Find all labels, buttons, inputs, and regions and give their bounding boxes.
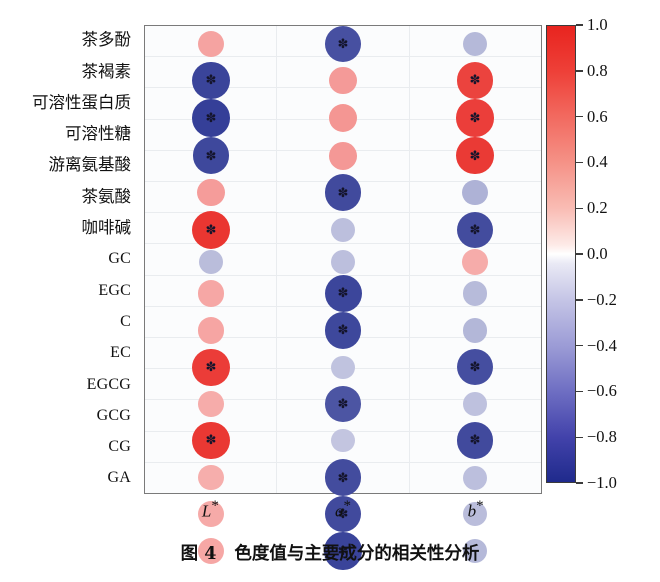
matrix-cell[interactable] [145,275,277,312]
correlation-bubble: ✽ [325,26,361,62]
matrix-cell[interactable]: ✽ [277,275,409,312]
y-axis-label: GC [0,244,138,275]
caption-text: 色度值与主要成分的相关性分析 [234,544,479,564]
colorbar-tick-line [576,116,583,117]
y-axis-label: 茶多酚 [0,25,138,56]
y-axis-label: 咖啡碱 [0,213,138,244]
matrix-cell[interactable]: ✽ [145,137,277,175]
y-axis-label: GA [0,463,138,494]
correlation-bubble: ✽ [456,99,493,136]
y-axis-label: 游离氨基酸 [0,150,138,181]
colorbar-tick-label: 0.8 [587,61,608,81]
correlation-bubble [463,32,488,57]
matrix-cell[interactable] [277,137,409,175]
colorbar-gradient [546,25,576,483]
matrix-row: ✽ [145,26,541,62]
correlation-bubble [331,429,354,452]
colorbar-tick-line [576,482,583,483]
correlation-bubble [331,250,355,274]
correlation-bubble [462,180,487,205]
correlation-bubble: ✽ [193,137,230,174]
matrix-row: ✽ [145,174,541,211]
colorbar-tick-label: 0.2 [587,198,608,218]
correlation-bubble: ✽ [325,459,361,495]
matrix-cell[interactable] [409,275,541,312]
correlation-bubble [198,465,224,491]
correlation-bubble [463,318,488,343]
colorbar-tick-line [576,253,583,254]
matrix-cell[interactable]: ✽ [277,459,409,495]
matrix-cell[interactable] [409,249,541,275]
colorbar-tick-line [576,70,583,71]
x-axis-labels: L*a*b* [144,498,542,528]
correlation-bubble: ✽ [192,99,230,137]
colorbar-tick-label: −1.0 [587,473,617,493]
correlation-bubble [198,31,225,58]
correlation-bubble: ✽ [457,349,493,385]
colorbar-tick-line [576,208,583,209]
x-axis-label-superscript: * [344,498,352,514]
matrix-cell[interactable] [145,312,277,349]
correlation-bubble: ✽ [192,62,229,99]
correlation-bubble [197,179,224,206]
matrix-cell[interactable]: ✽ [409,422,541,460]
correlation-bubble [331,356,354,379]
correlation-bubble: ✽ [325,174,362,211]
y-axis-label: GCG [0,400,138,431]
correlation-bubble [198,317,224,343]
colorbar-ticks: 1.00.80.60.40.20.0−0.2−0.4−0.6−0.8−1.0 [576,25,656,483]
matrix-row: ✽ [145,386,541,421]
y-axis-label: CG [0,431,138,462]
matrix-cell[interactable]: ✽ [145,211,277,249]
matrix-row: ✽✽ [145,99,541,137]
colorbar-tick-label: −0.6 [587,381,617,401]
matrix-cell[interactable] [409,459,541,495]
x-axis-label: a* [277,498,410,528]
colorbar-tick-label: −0.2 [587,290,617,310]
correlation-bubble: ✽ [192,349,229,386]
plot-area: ✽✽✽✽✽✽✽✽✽✽✽✽✽✽✽✽✽✽✽✽ [144,25,542,494]
colorbar-tick-label: −0.4 [587,336,617,356]
colorbar-tick-label: 0.0 [587,244,608,264]
matrix-cell[interactable]: ✽ [409,137,541,175]
matrix-cell[interactable] [409,26,541,62]
correlation-bubble: ✽ [457,62,494,99]
colorbar-tick-line [576,391,583,392]
matrix-row [145,249,541,275]
correlation-bubble [462,249,488,275]
bubble-matrix: ✽✽✽✽✽✽✽✽✽✽✽✽✽✽✽✽✽✽✽✽ [145,26,541,493]
matrix-cell[interactable]: ✽ [409,62,541,99]
matrix-row: ✽ [145,459,541,495]
correlation-bubble [329,104,357,132]
colorbar-tick-label: 0.4 [587,152,608,172]
matrix-cell[interactable]: ✽ [409,349,541,386]
colorbar-tick-label: 0.6 [587,107,608,127]
matrix-cell[interactable] [409,312,541,349]
correlation-bubble [463,281,487,305]
colorbar-tick-line [576,299,583,300]
colorbar-tick-line [576,437,583,438]
x-axis-label: L* [144,498,277,528]
correlation-bubble: ✽ [456,137,494,175]
x-axis-label-superscript: * [211,498,219,514]
correlation-bubble: ✽ [457,422,494,459]
y-axis-label: EC [0,338,138,369]
matrix-row: ✽ [145,312,541,349]
matrix-cell[interactable]: ✽ [145,62,277,99]
colorbar-tick-line [576,24,583,25]
matrix-row: ✽✽ [145,349,541,386]
x-axis-label-text: L [202,502,211,521]
x-axis-label: b* [409,498,542,528]
matrix-row: ✽✽ [145,62,541,99]
correlation-bubble [331,218,355,242]
matrix-cell[interactable] [145,174,277,211]
y-axis-label: 茶褐素 [0,56,138,87]
correlation-bubble [463,466,487,490]
matrix-cell[interactable]: ✽ [409,211,541,249]
correlation-bubble [198,280,224,306]
y-axis-labels: 茶多酚茶褐素可溶性蛋白质可溶性糖游离氨基酸茶氨酸咖啡碱GCEGCCECEGCGG… [0,25,138,494]
matrix-row: ✽✽ [145,137,541,175]
matrix-cell[interactable]: ✽ [277,26,409,62]
y-axis-label: EGC [0,275,138,306]
matrix-cell[interactable]: ✽ [277,174,409,211]
matrix-cell[interactable] [145,26,277,62]
correlation-bubble: ✽ [457,212,493,248]
matrix-cell[interactable]: ✽ [277,386,409,421]
correlation-bubble: ✽ [325,386,360,421]
matrix-cell[interactable]: ✽ [145,99,277,137]
matrix-cell[interactable] [277,62,409,99]
matrix-row: ✽✽ [145,422,541,460]
correlation-bubble-figure: 茶多酚茶褐素可溶性蛋白质可溶性糖游离氨基酸茶氨酸咖啡碱GCEGCCECEGCGG… [0,0,660,582]
correlation-bubble [198,391,224,417]
x-axis-label-superscript: * [476,498,484,514]
x-axis-label-text: a [335,502,344,521]
correlation-bubble [463,392,487,416]
correlation-bubble: ✽ [325,275,362,312]
matrix-cell[interactable] [409,174,541,211]
correlation-bubble [199,250,223,274]
matrix-cell[interactable] [277,211,409,249]
matrix-cell[interactable] [277,99,409,137]
matrix-cell[interactable] [409,386,541,421]
colorbar-tick-line [576,345,583,346]
y-axis-label: EGCG [0,369,138,400]
matrix-cell[interactable]: ✽ [277,312,409,349]
matrix-cell[interactable] [277,422,409,460]
colorbar-tick-label: −0.8 [587,427,617,447]
matrix-row: ✽ [145,275,541,312]
correlation-bubble: ✽ [325,312,362,349]
x-axis-label-text: b [468,502,477,521]
caption-number: 图 4 [181,544,217,564]
matrix-cell[interactable] [277,249,409,275]
matrix-cell[interactable] [277,349,409,386]
matrix-cell[interactable] [145,459,277,495]
y-axis-label: 茶氨酸 [0,181,138,212]
colorbar-tick-line [576,162,583,163]
y-axis-label: C [0,306,138,337]
figure-caption: 图 4色度值与主要成分的相关性分析 [0,540,660,565]
matrix-cell[interactable]: ✽ [145,349,277,386]
matrix-row: ✽✽ [145,211,541,249]
matrix-cell[interactable] [145,386,277,421]
matrix-cell[interactable] [145,249,277,275]
correlation-bubble [329,142,357,170]
y-axis-label: 可溶性糖 [0,119,138,150]
matrix-cell[interactable]: ✽ [145,422,277,460]
colorbar-tick-label: 1.0 [587,15,608,35]
correlation-bubble: ✽ [192,422,230,460]
y-axis-label: 可溶性蛋白质 [0,88,138,119]
correlation-bubble [329,67,357,95]
correlation-bubble: ✽ [192,211,230,249]
matrix-cell[interactable]: ✽ [409,99,541,137]
